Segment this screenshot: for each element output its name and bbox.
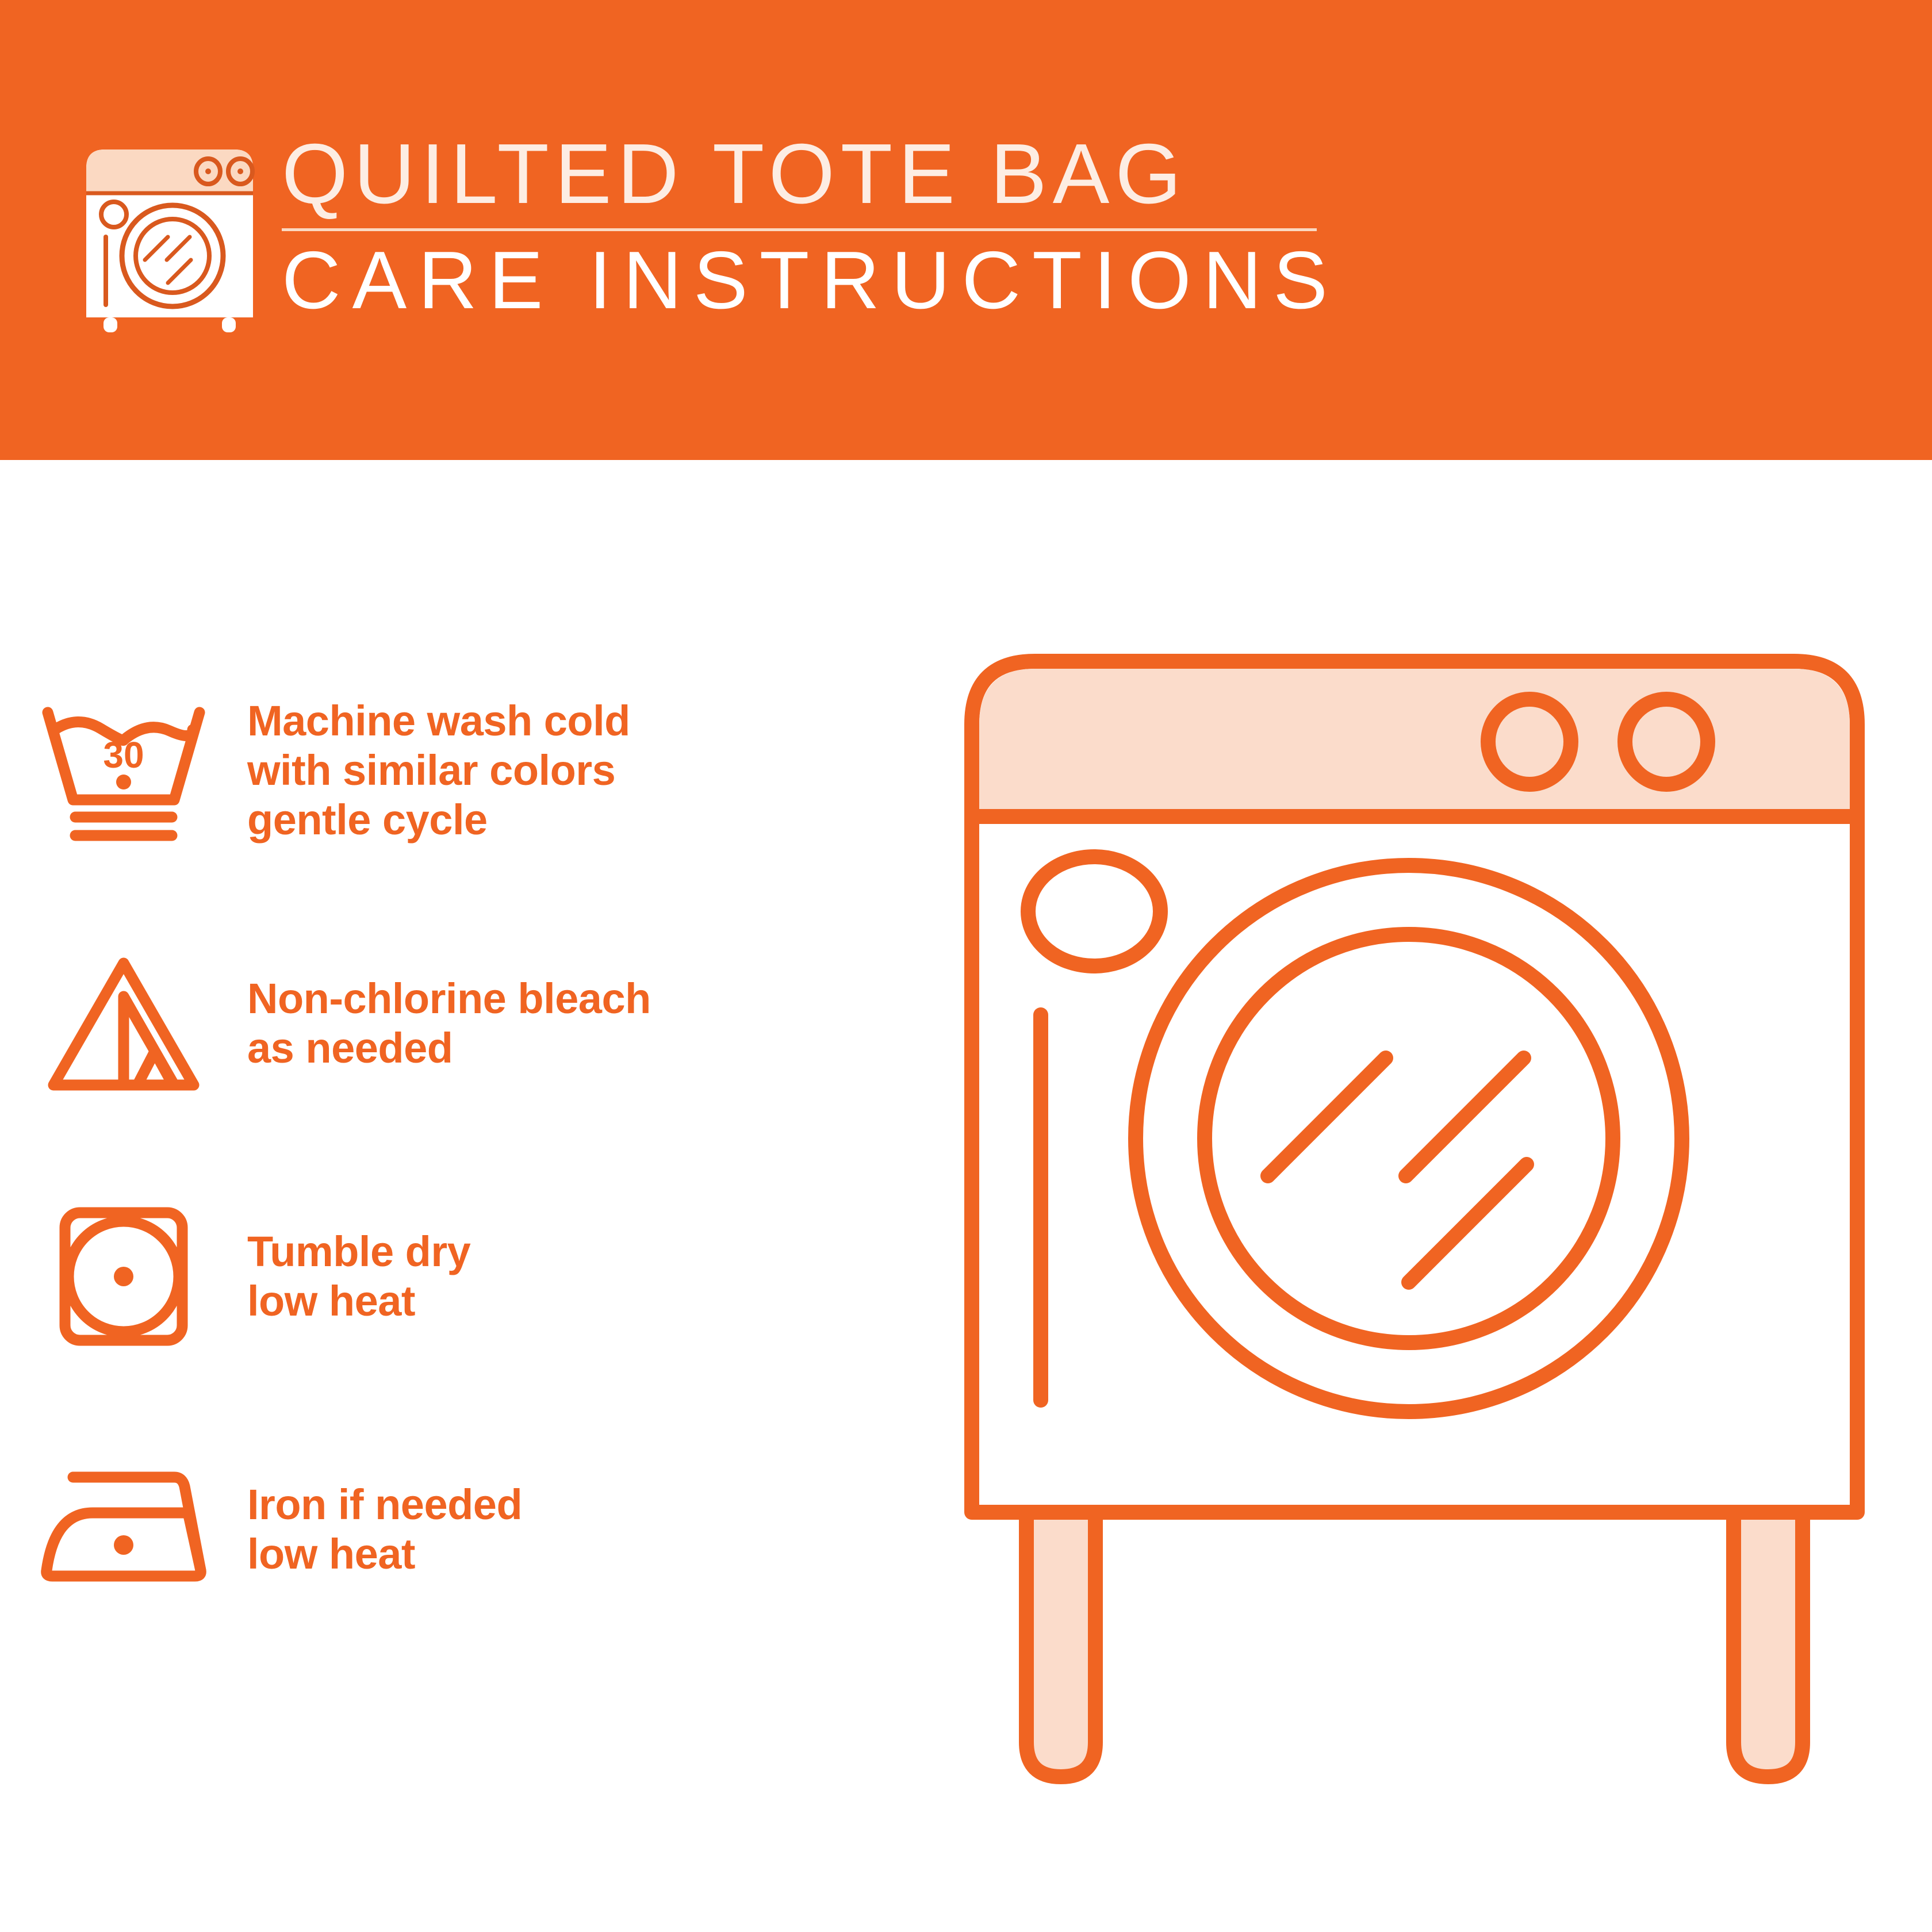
list-item: Tumble dry low heat bbox=[0, 1150, 920, 1403]
wash-temperature-value: 30 bbox=[103, 734, 144, 776]
washing-machine-illustration bbox=[949, 632, 1903, 1823]
wash-tub-30-gentle-icon: 30 bbox=[0, 673, 247, 868]
care-label: Non-chlorine bleach as needed bbox=[247, 974, 651, 1073]
care-instruction-list: 30 Machine wash cold with similar colors… bbox=[0, 644, 920, 1656]
iron-low-heat-icon bbox=[0, 1432, 247, 1627]
care-label: Iron if needed low heat bbox=[247, 1480, 522, 1579]
care-label: Tumble dry low heat bbox=[247, 1227, 470, 1326]
bleach-triangle-icon bbox=[0, 926, 247, 1121]
title-divider bbox=[282, 228, 1317, 231]
washing-machine-icon bbox=[80, 138, 259, 333]
leg-right bbox=[1734, 1512, 1803, 1777]
tumble-dry-low-icon bbox=[0, 1179, 247, 1374]
header-banner: QUILTED TOTE BAG CARE INSTRUCTIONS bbox=[0, 0, 1932, 460]
header-text-block: QUILTED TOTE BAG CARE INSTRUCTIONS bbox=[282, 131, 1328, 323]
care-label: Machine wash cold with similar colors ge… bbox=[247, 696, 630, 844]
control-panel bbox=[979, 669, 1850, 816]
list-item: Iron if needed low heat bbox=[0, 1403, 920, 1656]
leg-left bbox=[1026, 1512, 1095, 1777]
list-item: Non-chlorine bleach as needed bbox=[0, 897, 920, 1150]
list-item: 30 Machine wash cold with similar colors… bbox=[0, 644, 920, 897]
page-title: QUILTED TOTE BAG bbox=[282, 131, 1328, 218]
page-subtitle: CARE INSTRUCTIONS bbox=[282, 239, 1328, 323]
care-instructions-poster: QUILTED TOTE BAG CARE INSTRUCTIONS bbox=[0, 0, 1932, 1932]
